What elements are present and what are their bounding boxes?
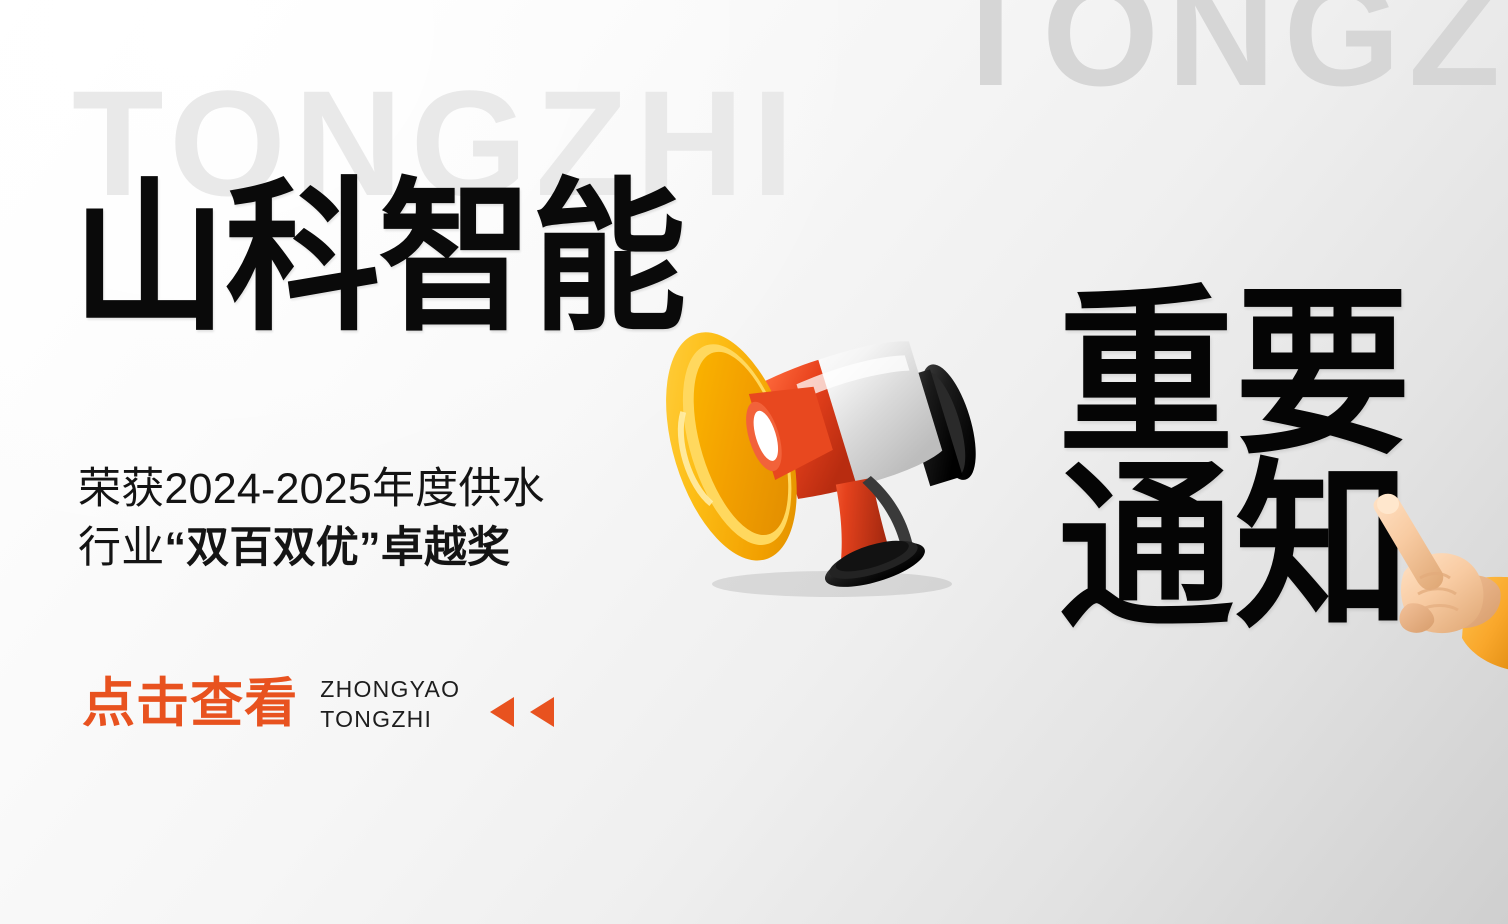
cta-pinyin-line-2: TONGZHI: [320, 704, 460, 734]
megaphone-icon: [612, 272, 1032, 602]
cta-pinyin: ZHONGYAO TONGZHI: [320, 672, 460, 735]
award-subtitle-emphasis: “双百双优”: [164, 524, 380, 572]
watermark-tongzhi-top: TONGZHI: [945, 0, 1508, 108]
award-subtitle-line-1: 荣获2024-2025年度供水: [78, 460, 545, 519]
award-subtitle: 荣获2024-2025年度供水 行业“双百双优”卓越奖: [78, 460, 545, 579]
award-subtitle-suffix: 卓越奖: [381, 524, 511, 572]
brand-title: 山科智能: [72, 176, 685, 340]
notice-banner: TONGZHI TONGZHI 山科智能 荣获2024-2025年度供水 行业“…: [0, 0, 1508, 924]
cta-pinyin-line-1: ZHONGYAO: [320, 674, 460, 704]
triangle-left-icon: [530, 697, 554, 727]
pointing-hand-icon: [1338, 486, 1508, 671]
award-subtitle-line-2: 行业“双百双优”卓越奖: [78, 519, 545, 578]
notice-heading-line-1: 重要: [1058, 288, 1412, 462]
cta-view-button[interactable]: 点击查看: [82, 677, 298, 730]
award-subtitle-prefix: 行业: [78, 524, 164, 572]
cta-arrows: [490, 679, 554, 727]
cta-row[interactable]: 点击查看 ZHONGYAO TONGZHI: [82, 672, 554, 735]
triangle-left-icon: [490, 697, 514, 727]
